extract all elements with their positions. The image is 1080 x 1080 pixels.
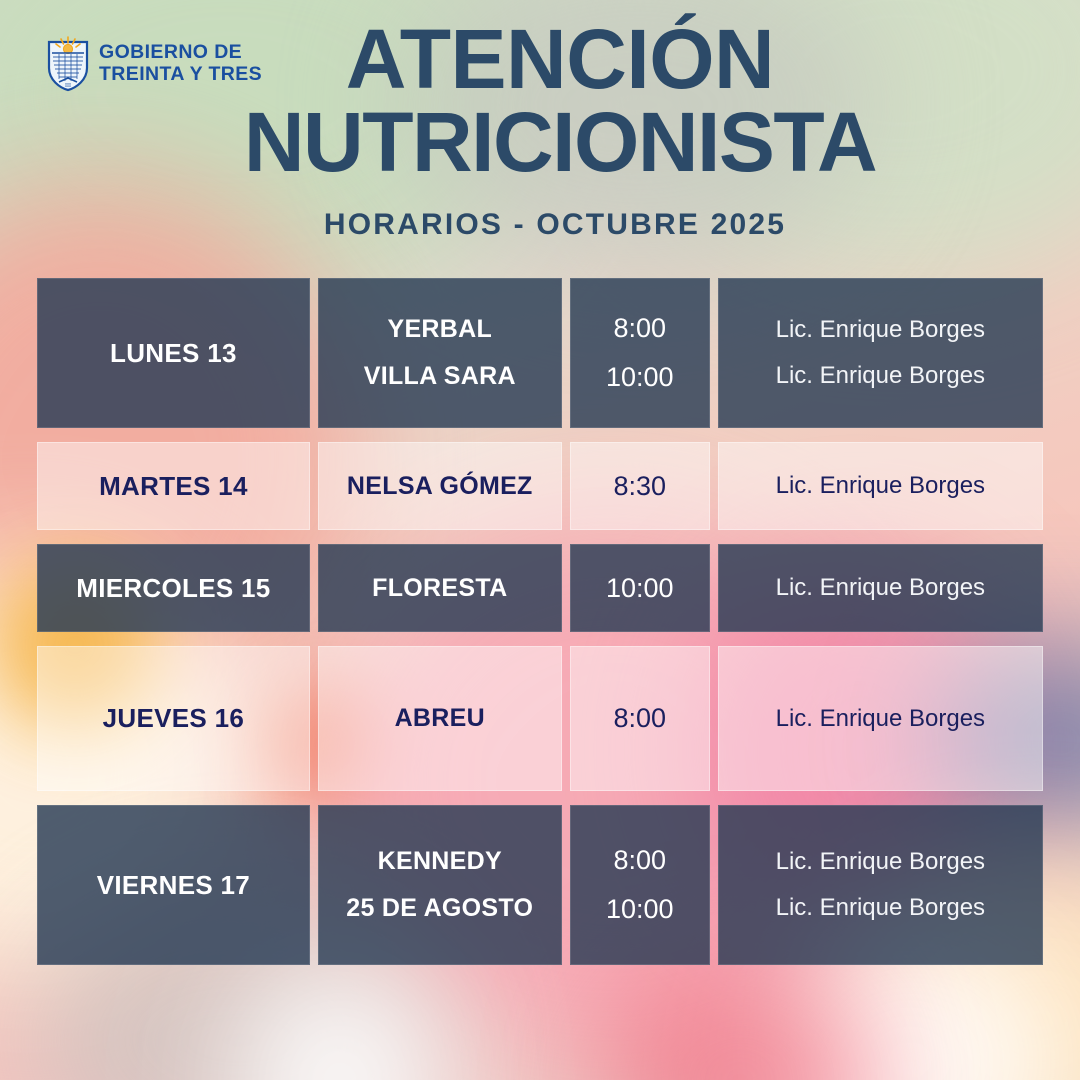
cell-time: 8:00 bbox=[570, 646, 710, 791]
time-label: 8:30 bbox=[571, 471, 709, 502]
day-label: LUNES 13 bbox=[38, 338, 309, 369]
cell-time: 8:00 10:00 bbox=[570, 278, 710, 428]
table-row: JUEVES 16 ABREU 8:00 Lic. Enrique Borges bbox=[37, 646, 1043, 791]
table-row: LUNES 13 YERBAL VILLA SARA 8:00 10:00 Li… bbox=[37, 278, 1043, 428]
title-line-2: NUTRICIONISTA bbox=[40, 101, 1080, 184]
schedule-table: LUNES 13 YERBAL VILLA SARA 8:00 10:00 Li… bbox=[37, 278, 1043, 979]
time-label: 8:00 bbox=[571, 845, 709, 876]
cell-day: MIERCOLES 15 bbox=[37, 544, 310, 632]
place-label: KENNEDY bbox=[319, 847, 561, 876]
cell-time: 8:30 bbox=[570, 442, 710, 530]
place-label: NELSA GÓMEZ bbox=[319, 472, 561, 501]
day-label: MARTES 14 bbox=[38, 471, 309, 502]
cell-time: 8:00 10:00 bbox=[570, 805, 710, 965]
professional-label: Lic. Enrique Borges bbox=[719, 472, 1042, 500]
day-label: MIERCOLES 15 bbox=[38, 573, 309, 604]
table-row: MARTES 14 NELSA GÓMEZ 8:30 Lic. Enrique … bbox=[37, 442, 1043, 530]
cell-professional: Lic. Enrique Borges Lic. Enrique Borges bbox=[718, 805, 1043, 965]
cell-day: JUEVES 16 bbox=[37, 646, 310, 791]
day-label: VIERNES 17 bbox=[38, 870, 309, 901]
cell-place: FLORESTA bbox=[318, 544, 562, 632]
page-subtitle: HORARIOS - OCTUBRE 2025 bbox=[0, 208, 1080, 242]
title-line-1: ATENCIÓN bbox=[40, 18, 1080, 101]
cell-place: ABREU bbox=[318, 646, 562, 791]
professional-label: Lic. Enrique Borges bbox=[719, 362, 1042, 390]
time-label: 10:00 bbox=[571, 362, 709, 393]
time-label: 8:00 bbox=[571, 313, 709, 344]
place-label: ABREU bbox=[319, 704, 561, 733]
cell-place: KENNEDY 25 DE AGOSTO bbox=[318, 805, 562, 965]
page-title: ATENCIÓN NUTRICIONISTA bbox=[0, 18, 1080, 184]
cell-professional: Lic. Enrique Borges bbox=[718, 646, 1043, 791]
cell-day: MARTES 14 bbox=[37, 442, 310, 530]
place-label: FLORESTA bbox=[319, 574, 561, 603]
professional-label: Lic. Enrique Borges bbox=[719, 316, 1042, 344]
poster-header: III GOBIERNO DETREINTA Y TRES ATENCIÓN N… bbox=[0, 0, 1080, 270]
place-label: VILLA SARA bbox=[319, 362, 561, 391]
table-row: MIERCOLES 15 FLORESTA 10:00 Lic. Enrique… bbox=[37, 544, 1043, 632]
time-label: 10:00 bbox=[571, 573, 709, 604]
cell-day: LUNES 13 bbox=[37, 278, 310, 428]
cell-professional: Lic. Enrique Borges bbox=[718, 442, 1043, 530]
cell-time: 10:00 bbox=[570, 544, 710, 632]
cell-place: NELSA GÓMEZ bbox=[318, 442, 562, 530]
professional-label: Lic. Enrique Borges bbox=[719, 705, 1042, 733]
cell-professional: Lic. Enrique Borges Lic. Enrique Borges bbox=[718, 278, 1043, 428]
time-label: 10:00 bbox=[571, 894, 709, 925]
time-label: 8:00 bbox=[571, 703, 709, 734]
professional-label: Lic. Enrique Borges bbox=[719, 848, 1042, 876]
place-label: 25 DE AGOSTO bbox=[319, 894, 561, 923]
cell-place: YERBAL VILLA SARA bbox=[318, 278, 562, 428]
table-row: VIERNES 17 KENNEDY 25 DE AGOSTO 8:00 10:… bbox=[37, 805, 1043, 965]
day-label: JUEVES 16 bbox=[38, 703, 309, 734]
cell-professional: Lic. Enrique Borges bbox=[718, 544, 1043, 632]
cell-day: VIERNES 17 bbox=[37, 805, 310, 965]
place-label: YERBAL bbox=[319, 315, 561, 344]
professional-label: Lic. Enrique Borges bbox=[719, 574, 1042, 602]
professional-label: Lic. Enrique Borges bbox=[719, 894, 1042, 922]
